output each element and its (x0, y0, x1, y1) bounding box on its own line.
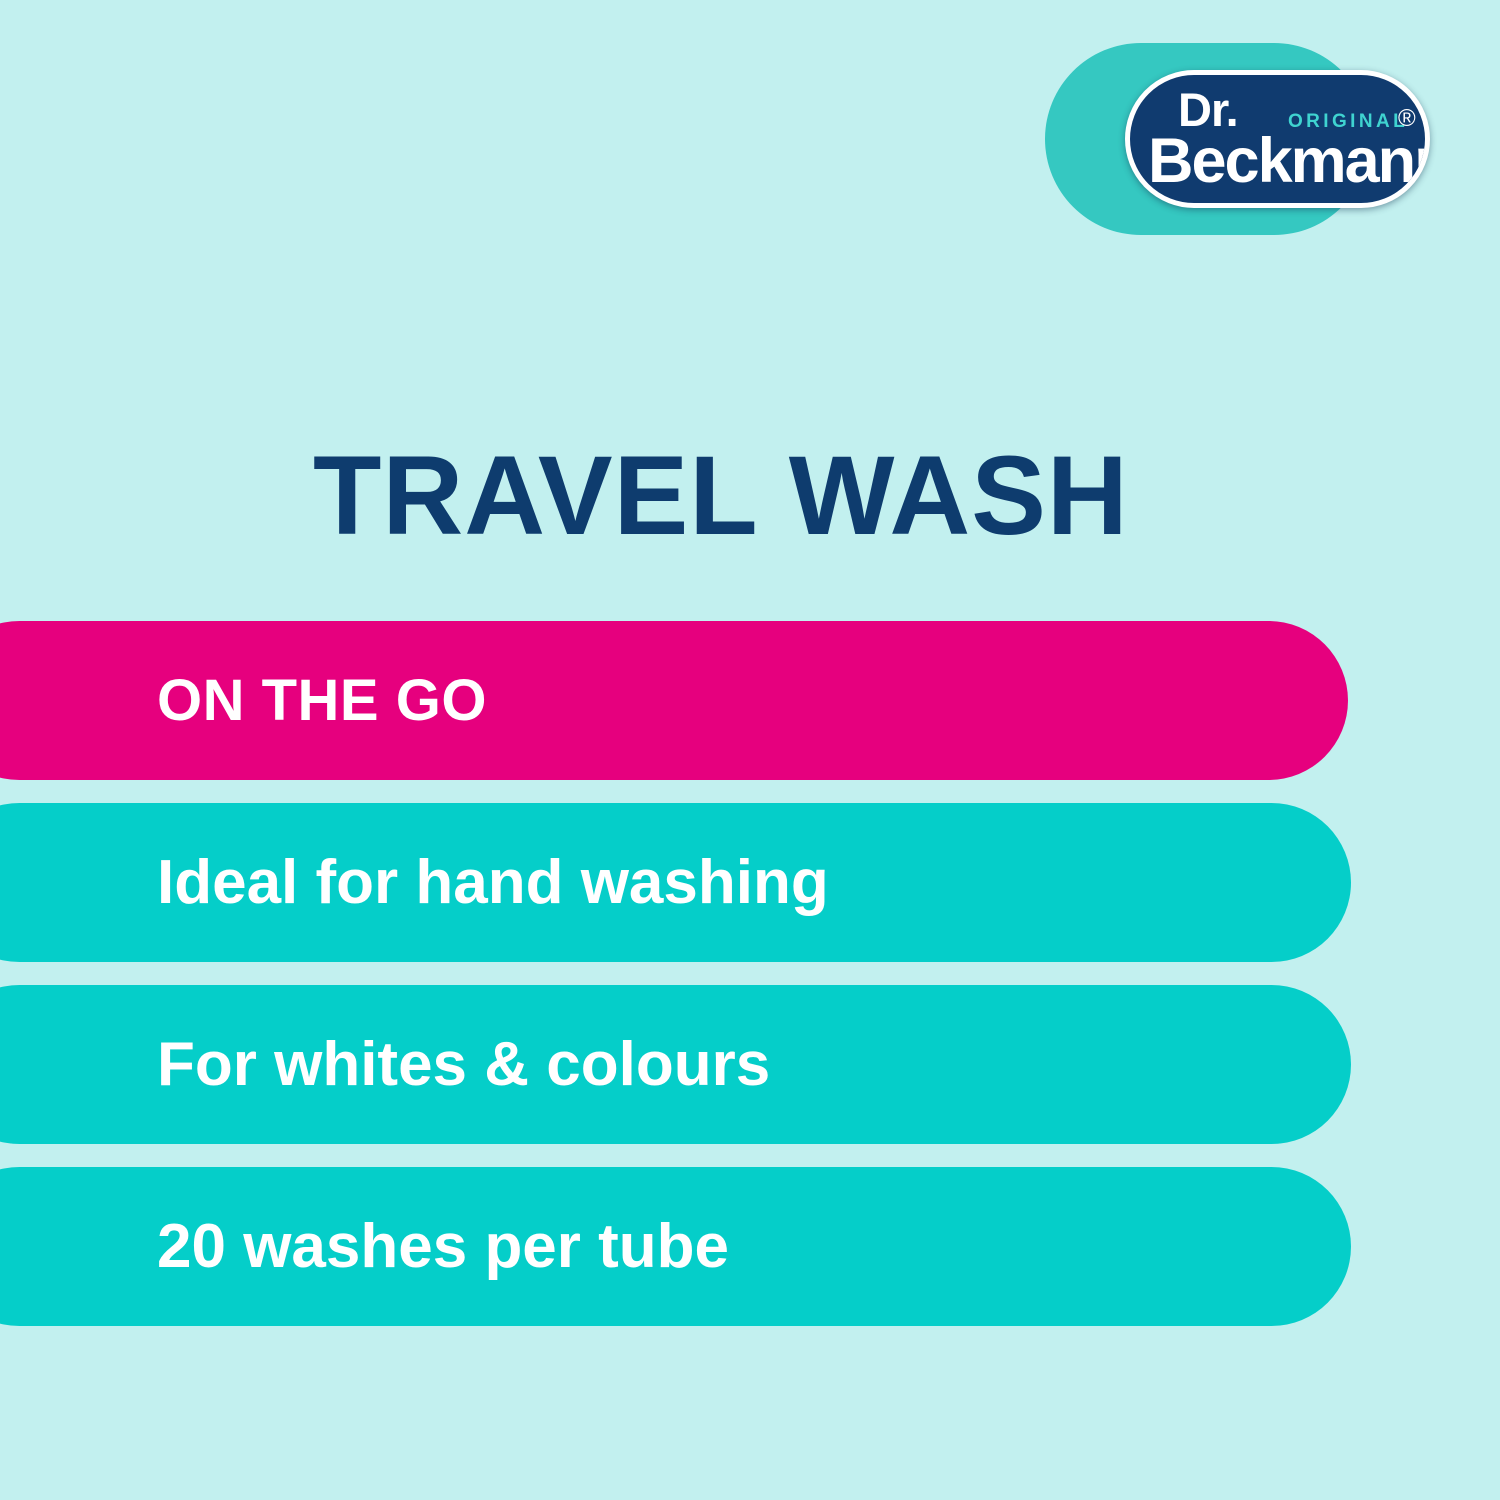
logo-brand-name: Beckmann (1148, 130, 1430, 193)
feature-bar-whites-colours: For whites & colours (0, 985, 1351, 1144)
feature-bar-label: 20 washes per tube (157, 1216, 729, 1278)
feature-bar-hand-washing: Ideal for hand washing (0, 803, 1351, 962)
page-title: TRAVEL WASH (313, 440, 1129, 552)
logo-pill-shape: Dr. ORIGINAL ® Beckmann (1125, 70, 1430, 208)
brand-logo: Dr. ORIGINAL ® Beckmann (1045, 43, 1370, 235)
feature-bar-washes-per-tube: 20 washes per tube (0, 1167, 1351, 1326)
feature-bar-on-the-go: ON THE GO (0, 621, 1348, 780)
feature-bar-label: ON THE GO (157, 672, 487, 730)
feature-bar-label: For whites & colours (157, 1034, 770, 1096)
feature-bar-label: Ideal for hand washing (157, 852, 829, 914)
